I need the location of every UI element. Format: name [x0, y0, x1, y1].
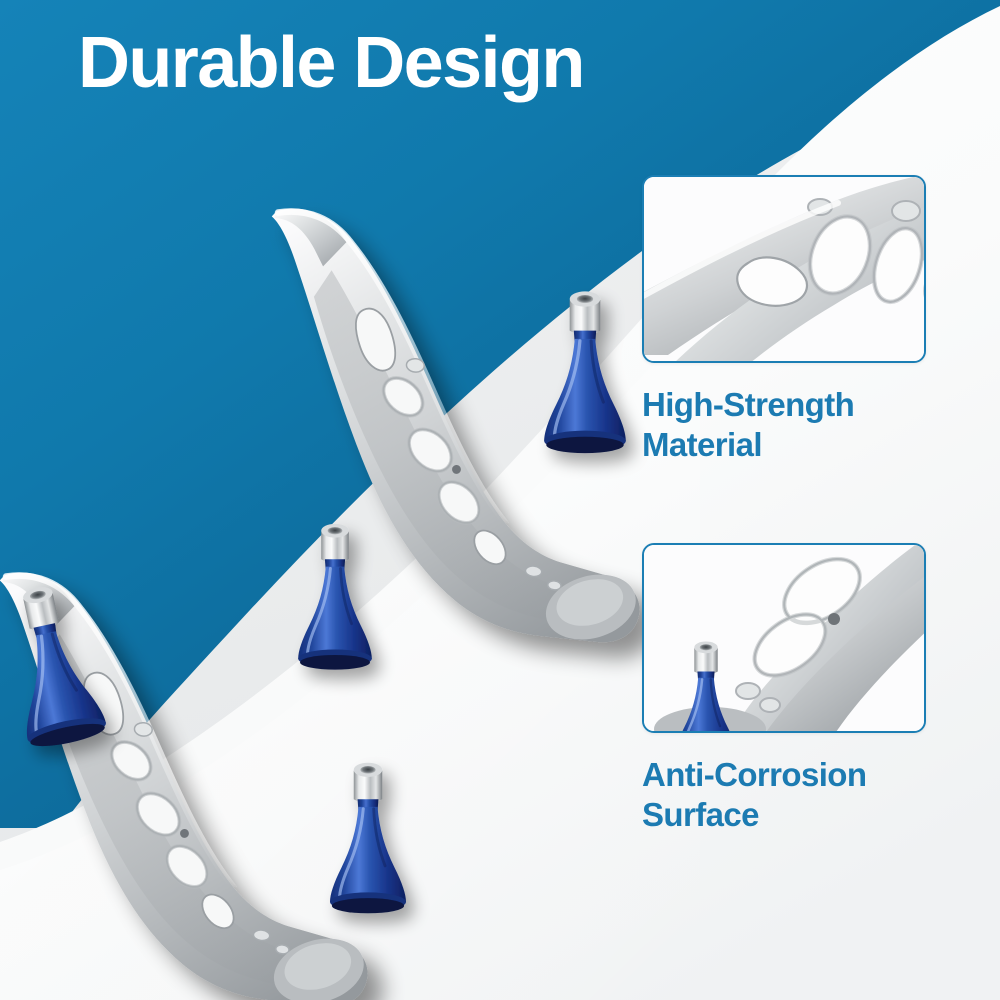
white-product-floor	[0, 0, 1000, 1000]
feature-thumbnail-anti-corrosion-surface[interactable]	[642, 543, 926, 733]
feature-thumbnail-high-strength-material[interactable]	[642, 175, 926, 363]
feature-card-high-strength-material[interactable]: High-Strength Material	[642, 175, 926, 466]
feature-caption-anti-corrosion-surface: Anti-Corrosion Surface	[642, 755, 926, 836]
feature-card-anti-corrosion-surface[interactable]: Anti-Corrosion Surface	[642, 543, 926, 836]
feature-caption-high-strength-material: High-Strength Material	[642, 385, 926, 466]
product-marketing-banner: Durable Design	[0, 0, 1000, 1000]
page-title: Durable Design	[78, 26, 584, 101]
